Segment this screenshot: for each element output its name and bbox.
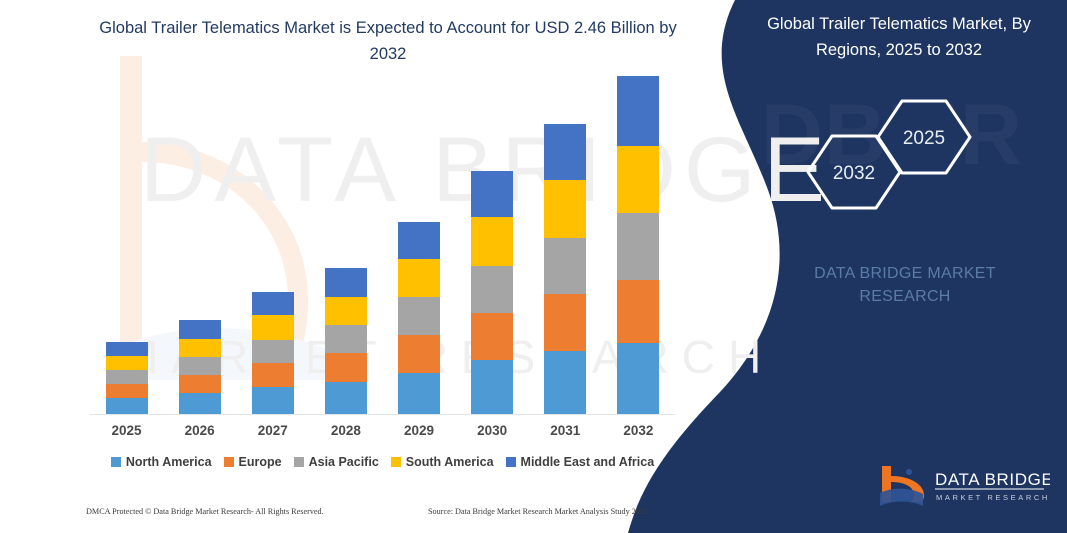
x-axis-tick-label: 2028: [310, 423, 381, 438]
stacked-bar: [617, 76, 659, 414]
bar-segment: [544, 294, 586, 351]
bar-segment: [617, 280, 659, 343]
x-axis-tick-label: 2027: [237, 423, 308, 438]
stacked-bar: [106, 342, 148, 414]
legend-swatch-icon: [294, 457, 304, 467]
legend-label: Asia Pacific: [309, 455, 379, 469]
stacked-bar: [252, 292, 294, 414]
brand-name-line1: DATA BRIDGE MARKET: [760, 262, 1050, 285]
bar-group: [457, 61, 528, 414]
stacked-bar-chart: [90, 60, 675, 415]
bar-segment: [471, 171, 513, 217]
legend-item[interactable]: North America: [111, 455, 212, 469]
x-axis-tick-label: 2026: [164, 423, 235, 438]
left-panel-content: DATA BRIDGE MARKET RESEARCH Global Trail…: [0, 0, 700, 533]
stacked-bar: [325, 268, 367, 414]
bar-segment: [617, 76, 659, 147]
bar-segment: [544, 238, 586, 294]
chart-legend: North AmericaEuropeAsia PacificSouth Ame…: [90, 455, 675, 469]
brand-name-line2: RESEARCH: [760, 285, 1050, 308]
hexagon-badges: 2032 2025: [800, 95, 1010, 225]
bar-segment: [325, 325, 367, 353]
legend-label: North America: [126, 455, 212, 469]
hexagon-2032-label: 2032: [833, 163, 875, 184]
bar-segment: [252, 387, 294, 414]
x-axis-labels: 20252026202720282029203020312032: [90, 423, 675, 438]
legend-item[interactable]: Europe: [224, 455, 282, 469]
bar-group: [91, 61, 162, 414]
stacked-bar: [544, 124, 586, 414]
bar-segment: [252, 315, 294, 339]
bar-group: [310, 61, 381, 414]
bar-group: [530, 61, 601, 414]
panel-title: Global Trailer Telematics Market, By Reg…: [744, 12, 1054, 63]
bar-segment: [325, 268, 367, 297]
bar-segment: [398, 259, 440, 297]
legend-label: South America: [406, 455, 494, 469]
legend-item[interactable]: South America: [391, 455, 494, 469]
bar-group: [384, 61, 455, 414]
legend-label: Middle East and Africa: [521, 455, 655, 469]
bar-segment: [398, 373, 440, 414]
legend-swatch-icon: [391, 457, 401, 467]
footer-source: Source: Data Bridge Market Research Mark…: [428, 507, 648, 516]
bar-segment: [106, 370, 148, 383]
x-axis-tick-label: 2032: [603, 423, 674, 438]
legend-item[interactable]: Middle East and Africa: [506, 455, 655, 469]
bar-segment: [325, 297, 367, 325]
bar-segment: [106, 384, 148, 399]
legend-swatch-icon: [224, 457, 234, 467]
bar-segment: [398, 297, 440, 335]
bar-segment: [471, 217, 513, 266]
legend-swatch-icon: [111, 457, 121, 467]
x-axis-tick-label: 2025: [91, 423, 162, 438]
bar-segment: [398, 335, 440, 373]
bar-segment: [252, 292, 294, 315]
dbmr-logo: DATA BRIDGE MARKET RESEARCH: [878, 462, 1050, 510]
bar-segment: [471, 266, 513, 313]
brand-name: DATA BRIDGE MARKET RESEARCH: [760, 262, 1050, 308]
bar-segment: [325, 353, 367, 382]
bar-group: [164, 61, 235, 414]
stacked-bar: [471, 171, 513, 414]
hexagon-2025-label: 2025: [903, 128, 945, 149]
bar-segment: [252, 340, 294, 363]
bar-group: [603, 61, 674, 414]
x-axis-tick-label: 2031: [530, 423, 601, 438]
dbmr-logo-subtitle: MARKET RESEARCH: [936, 493, 1050, 502]
bar-segment: [617, 343, 659, 414]
stacked-bar: [398, 222, 440, 414]
bar-segment: [617, 146, 659, 213]
dbmr-logo-mark: [880, 466, 924, 506]
bar-segment: [325, 382, 367, 414]
x-axis-line: [90, 414, 675, 415]
bar-segment: [544, 124, 586, 180]
bar-segment: [398, 222, 440, 260]
bar-segment: [106, 398, 148, 414]
bar-segment: [544, 180, 586, 237]
infographic-canvas: DBMR DATA BRIDGE MARKET RESEARCH Global …: [0, 0, 1067, 533]
bar-segment: [544, 351, 586, 414]
legend-item[interactable]: Asia Pacific: [294, 455, 379, 469]
bar-segment: [179, 375, 221, 393]
bar-series-container: [90, 61, 675, 414]
dbmr-logo-title: DATA BRIDGE: [935, 470, 1050, 489]
bar-segment: [617, 213, 659, 280]
bar-group: [237, 61, 308, 414]
x-axis-tick-label: 2030: [457, 423, 528, 438]
bar-segment: [179, 339, 221, 357]
bar-segment: [179, 320, 221, 338]
footer-copyright: DMCA Protected © Data Bridge Market Rese…: [86, 507, 324, 516]
x-axis-tick-label: 2029: [384, 423, 455, 438]
bar-segment: [252, 363, 294, 387]
bar-segment: [179, 357, 221, 375]
bar-segment: [179, 393, 221, 414]
legend-label: Europe: [239, 455, 282, 469]
stacked-bar: [179, 320, 221, 414]
plot-area: [90, 60, 675, 415]
bar-segment: [106, 356, 148, 371]
legend-swatch-icon: [506, 457, 516, 467]
bar-segment: [471, 360, 513, 414]
bar-segment: [106, 342, 148, 355]
bar-segment: [471, 313, 513, 360]
